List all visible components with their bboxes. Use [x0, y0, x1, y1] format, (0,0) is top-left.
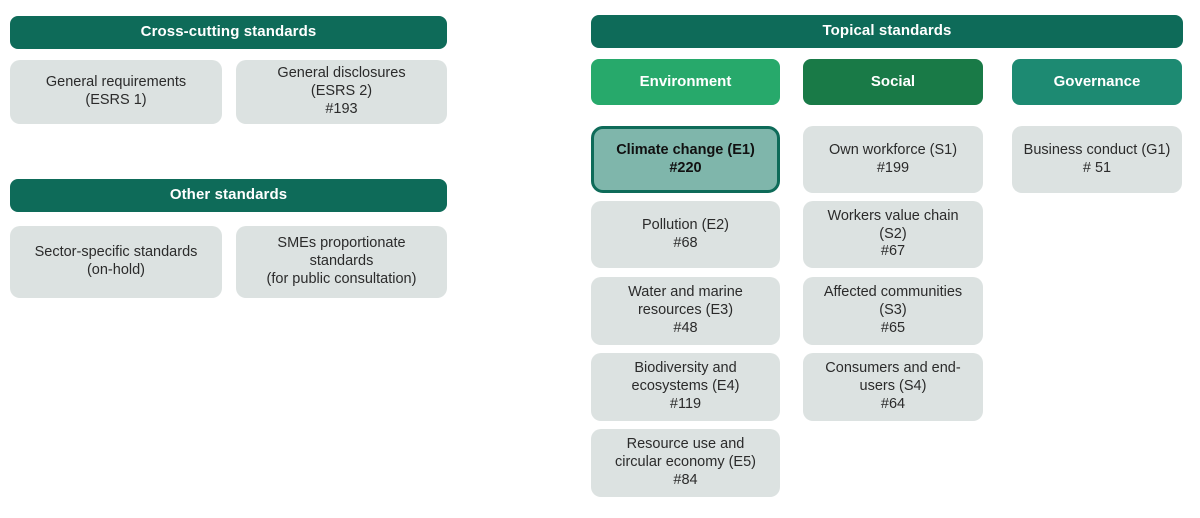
- card-climate-change-e1-label: Climate change (E1) #220: [608, 142, 763, 177]
- topical-standards-header: Topical standards: [591, 15, 1183, 48]
- diagram-canvas: Cross-cutting standards General requirem…: [0, 0, 1200, 518]
- category-header-social[interactable]: Social: [803, 59, 983, 105]
- card-general-disclosures[interactable]: General disclosures (ESRS 2) #193: [236, 60, 447, 124]
- card-general-disclosures-label: General disclosures (ESRS 2) #193: [269, 65, 413, 118]
- card-smes-proportionate-standards-label: SMEs proportionate standards (for public…: [259, 235, 425, 288]
- card-own-workforce-s1-label: Own workforce (S1) #199: [821, 142, 965, 177]
- card-climate-change-e1[interactable]: Climate change (E1) #220: [591, 126, 780, 193]
- card-consumers-and-end-users-s4-label: Consumers and end- users (S4) #64: [817, 360, 968, 413]
- topical-standards-header-label: Topical standards: [815, 22, 960, 40]
- card-general-requirements[interactable]: General requirements (ESRS 1): [10, 60, 222, 124]
- card-water-and-marine-resources-e3-label: Water and marine resources (E3) #48: [620, 284, 751, 337]
- cross-cutting-standards-header: Cross-cutting standards: [10, 16, 447, 49]
- card-biodiversity-and-ecosystems-e4[interactable]: Biodiversity and ecosystems (E4) #119: [591, 353, 780, 421]
- category-header-environment[interactable]: Environment: [591, 59, 780, 105]
- category-header-environment-label: Environment: [632, 73, 740, 91]
- card-affected-communities-s3[interactable]: Affected communities (S3) #65: [803, 277, 983, 345]
- card-resource-use-and-circular-economy-e5-label: Resource use and circular economy (E5) #…: [607, 436, 764, 489]
- category-header-social-label: Social: [863, 73, 923, 91]
- card-consumers-and-end-users-s4[interactable]: Consumers and end- users (S4) #64: [803, 353, 983, 421]
- other-standards-header-label: Other standards: [162, 186, 295, 204]
- card-own-workforce-s1[interactable]: Own workforce (S1) #199: [803, 126, 983, 193]
- card-sector-specific-standards[interactable]: Sector-specific standards (on-hold): [10, 226, 222, 298]
- cross-cutting-header-label: Cross-cutting standards: [133, 23, 325, 41]
- card-workers-value-chain-s2-label: Workers value chain (S2) #67: [819, 208, 966, 261]
- card-sector-specific-standards-label: Sector-specific standards (on-hold): [27, 244, 206, 279]
- card-business-conduct-g1[interactable]: Business conduct (G1) # 51: [1012, 126, 1182, 193]
- card-pollution-e2[interactable]: Pollution (E2) #68: [591, 201, 780, 268]
- card-affected-communities-s3-label: Affected communities (S3) #65: [816, 284, 970, 337]
- card-resource-use-and-circular-economy-e5[interactable]: Resource use and circular economy (E5) #…: [591, 429, 780, 497]
- category-header-governance[interactable]: Governance: [1012, 59, 1182, 105]
- card-business-conduct-g1-label: Business conduct (G1) # 51: [1016, 142, 1179, 177]
- card-workers-value-chain-s2[interactable]: Workers value chain (S2) #67: [803, 201, 983, 268]
- card-general-requirements-label: General requirements (ESRS 1): [38, 74, 194, 109]
- card-smes-proportionate-standards[interactable]: SMEs proportionate standards (for public…: [236, 226, 447, 298]
- card-pollution-e2-label: Pollution (E2) #68: [634, 217, 737, 252]
- card-water-and-marine-resources-e3[interactable]: Water and marine resources (E3) #48: [591, 277, 780, 345]
- other-standards-header: Other standards: [10, 179, 447, 212]
- category-header-governance-label: Governance: [1046, 73, 1149, 91]
- card-biodiversity-and-ecosystems-e4-label: Biodiversity and ecosystems (E4) #119: [624, 360, 748, 413]
